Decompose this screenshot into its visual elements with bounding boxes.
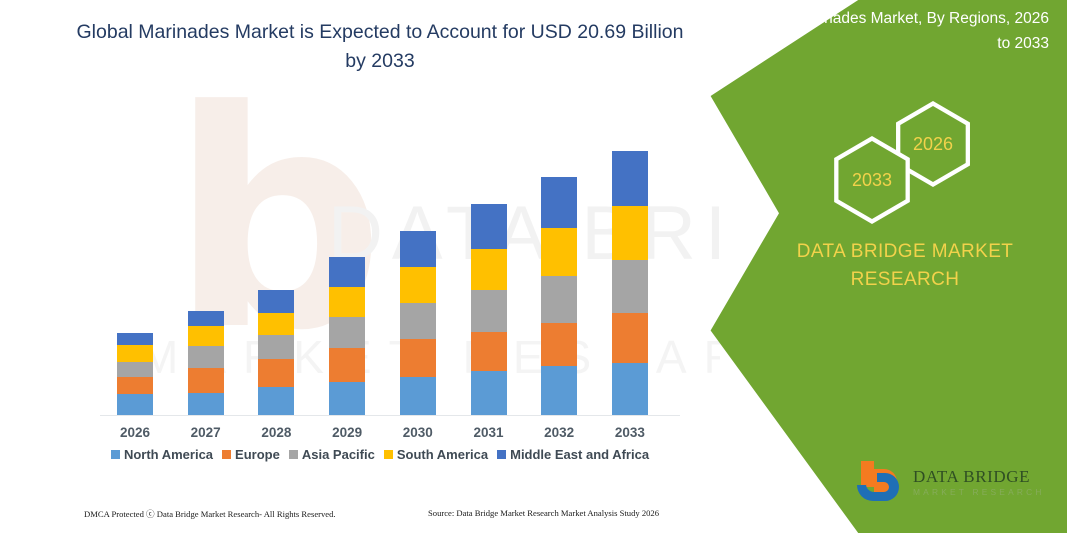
legend-item-north-america[interactable]: North America [111,447,213,462]
bar-segment-middle-east-and-africa [258,290,294,313]
bar-segment-south-america [258,313,294,335]
brand-panel-title: Global Marinades Market, By Regions, 202… [729,6,1049,56]
bar-segment-north-america [541,366,577,415]
legend-label: Europe [235,447,280,462]
bar-segment-asia-pacific [400,303,436,339]
bar-segment-north-america [258,387,294,415]
legend-swatch-icon [384,450,393,459]
x-axis-label-2026: 2026 [105,425,165,440]
bar-segment-asia-pacific [612,260,648,313]
bar-segment-asia-pacific [117,362,153,377]
bar-segment-europe [471,332,507,371]
logo-mark-icon [855,459,907,509]
logo-tagline: MARKET RESEARCH [913,487,1045,497]
brand-name: DATA BRIDGE MARKET RESEARCH [775,238,1035,294]
bar-segment-middle-east-and-africa [471,204,507,249]
bar-segment-europe [400,339,436,377]
legend-item-europe[interactable]: Europe [222,447,280,462]
x-axis-label-2029: 2029 [317,425,377,440]
legend-label: South America [397,447,488,462]
bar-segment-south-america [612,206,648,260]
legend-item-middle-east-and-africa[interactable]: Middle East and Africa [497,447,649,462]
bar-segment-europe [541,323,577,366]
bar-segment-europe [117,377,153,394]
chart-infographic: b DATA BRIDGE MARKET RESEARCH Global Mar… [0,0,1067,533]
legend-swatch-icon [289,450,298,459]
bar-segment-south-america [188,326,224,346]
legend-item-asia-pacific[interactable]: Asia Pacific [289,447,375,462]
bar-2031 [471,204,507,415]
bar-2033 [612,151,648,415]
bar-segment-middle-east-and-africa [117,333,153,345]
bar-segment-south-america [541,228,577,276]
bar-segment-middle-east-and-africa [612,151,648,206]
legend-item-south-america[interactable]: South America [384,447,488,462]
bar-2032 [541,177,577,415]
bar-segment-middle-east-and-africa [541,177,577,228]
bar-segment-north-america [612,363,648,415]
footer-source: Source: Data Bridge Market Research Mark… [428,508,659,518]
bar-segment-asia-pacific [471,290,507,332]
legend-label: Asia Pacific [302,447,375,462]
bar-segment-europe [258,359,294,387]
bar-segment-north-america [400,377,436,415]
legend-label: North America [124,447,213,462]
bar-segment-south-america [329,287,365,317]
bar-segment-asia-pacific [541,276,577,323]
logo-name: DATA BRIDGE [913,467,1030,487]
bar-segment-south-america [471,249,507,290]
bar-segment-europe [612,313,648,363]
footer-copyright: DMCA Protected ⓒ Data Bridge Market Rese… [84,508,336,520]
bar-segment-south-america [400,267,436,303]
brand-panel: Global Marinades Market, By Regions, 202… [707,0,1067,533]
x-axis-label-2033: 2033 [600,425,660,440]
legend-swatch-icon [222,450,231,459]
chart-legend: North AmericaEuropeAsia PacificSouth Ame… [80,447,680,462]
bar-segment-middle-east-and-africa [400,231,436,267]
bar-2026 [117,333,153,415]
legend-swatch-icon [497,450,506,459]
bar-2028 [258,290,294,415]
bar-segment-north-america [188,393,224,415]
legend-swatch-icon [111,450,120,459]
bar-segment-asia-pacific [188,346,224,368]
bar-2027 [188,311,224,415]
bar-segment-north-america [117,394,153,415]
hexagon-label: 2033 [852,170,892,191]
bar-segment-middle-east-and-africa [329,257,365,287]
bar-segment-north-america [329,382,365,415]
bar-2029 [329,257,365,415]
x-axis-label-2027: 2027 [176,425,236,440]
bar-segment-asia-pacific [329,317,365,348]
bar-segment-europe [188,368,224,393]
bar-segment-middle-east-and-africa [188,311,224,326]
x-axis-label-2028: 2028 [246,425,306,440]
bar-segment-europe [329,348,365,382]
bar-segment-asia-pacific [258,335,294,359]
x-axis-label-2032: 2032 [529,425,589,440]
x-axis-line [100,415,680,416]
bar-segment-south-america [117,345,153,362]
x-axis-label-2030: 2030 [388,425,448,440]
bar-segment-north-america [471,371,507,415]
data-bridge-logo: DATA BRIDGE MARKET RESEARCH [855,459,1055,511]
hexagon-label: 2026 [913,134,953,155]
legend-label: Middle East and Africa [510,447,649,462]
x-axis-label-2031: 2031 [459,425,519,440]
bar-2030 [400,231,436,415]
